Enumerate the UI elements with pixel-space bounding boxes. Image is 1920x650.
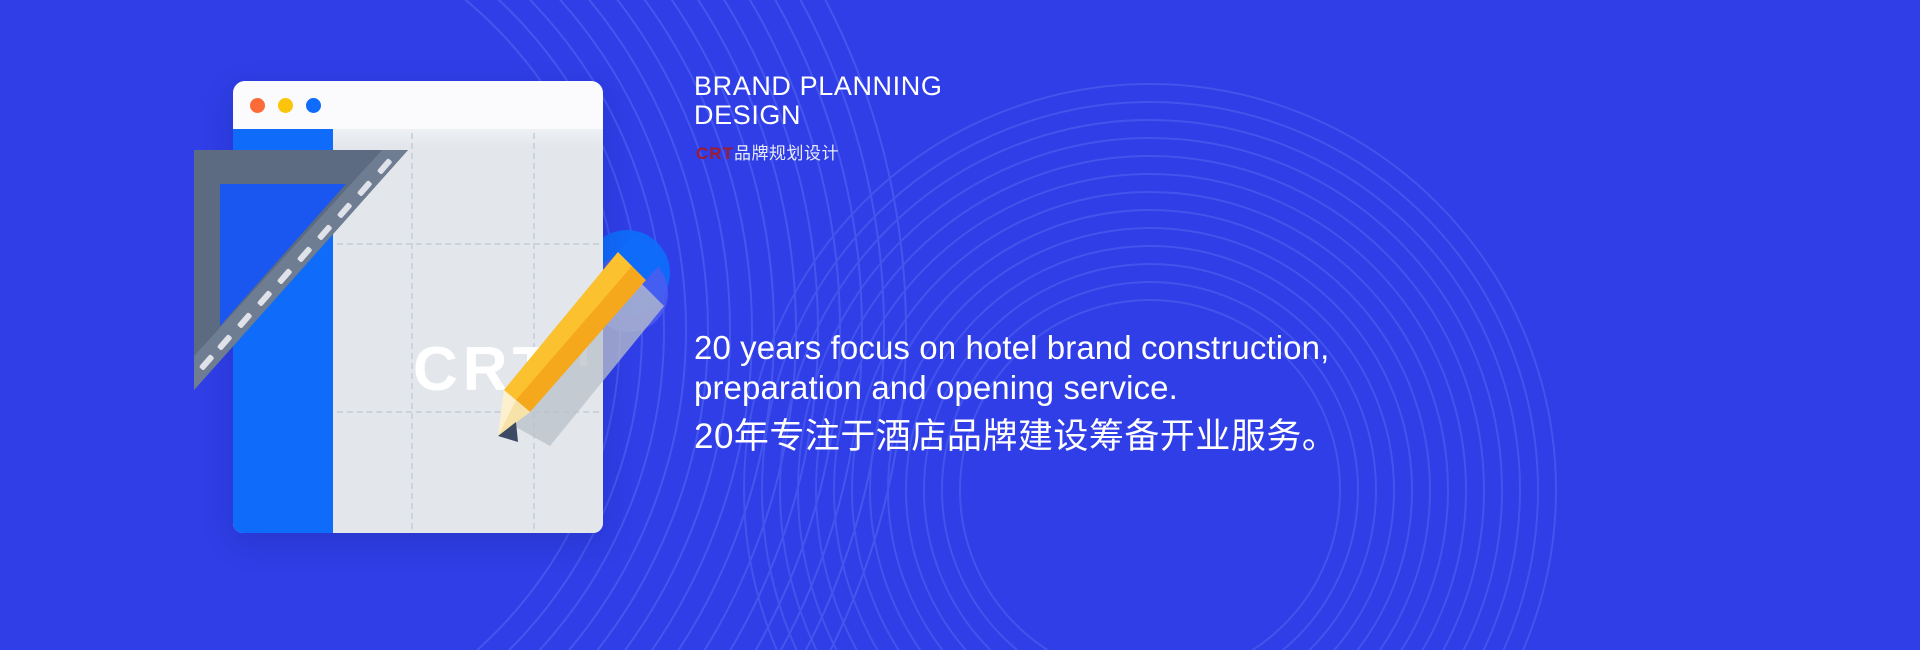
lede-en: 20 years focus on hotel brand constructi… xyxy=(694,328,1394,409)
subheadline-cn: CRT品牌规划设计 xyxy=(696,139,839,164)
hero-illustration: CRT xyxy=(186,78,686,578)
window-title-bar xyxy=(233,81,603,129)
set-square-ruler-icon xyxy=(186,142,416,402)
headline-line-2: DESIGN xyxy=(694,101,1254,130)
subheadline-cn-text: 品牌规划设计 xyxy=(734,144,839,163)
copy-block: BRAND PLANNING DESIGN CRT品牌规划设计 20 years… xyxy=(694,0,1794,650)
lede-en-line-2: preparation and opening service. xyxy=(694,368,1394,408)
window-controls xyxy=(250,98,321,113)
close-dot-icon[interactable] xyxy=(250,98,265,113)
maximize-dot-icon[interactable] xyxy=(306,98,321,113)
brand-banner: CRT xyxy=(0,0,1920,650)
headline-group: BRAND PLANNING DESIGN xyxy=(694,72,1254,130)
pencil-icon xyxy=(468,226,698,486)
lede-en-line-1: 20 years focus on hotel brand constructi… xyxy=(694,328,1394,368)
headline-line-1: BRAND PLANNING xyxy=(694,72,1254,101)
lede-cn: 20年专注于酒店品牌建设筹备开业服务。 xyxy=(694,415,1414,459)
subheadline-brand: CRT xyxy=(696,144,734,163)
minimize-dot-icon[interactable] xyxy=(278,98,293,113)
